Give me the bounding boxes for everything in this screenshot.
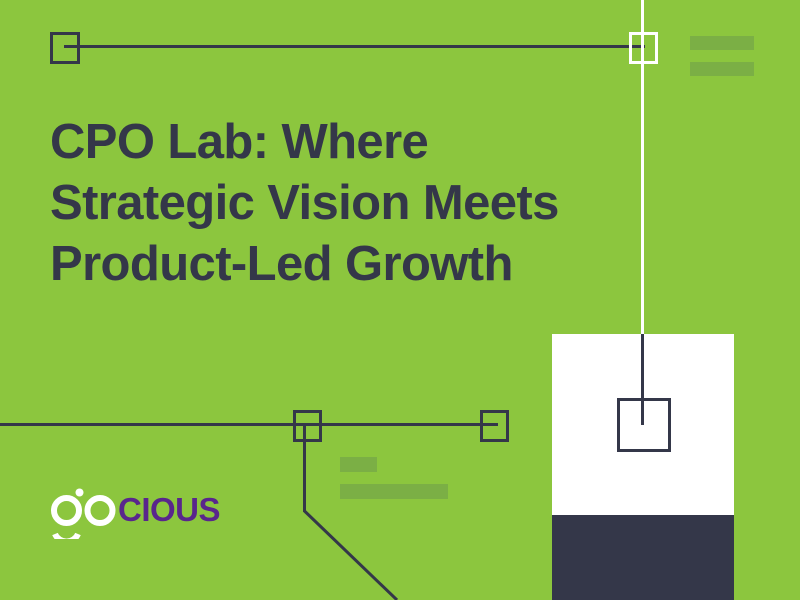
top-left-square-outline bbox=[50, 32, 80, 64]
top-horizontal-rule bbox=[64, 45, 645, 48]
mid-olive-bar-1 bbox=[340, 457, 377, 472]
panel-navy-block bbox=[552, 515, 734, 600]
logo-letter-g bbox=[54, 489, 84, 540]
mid-drop-vertical-line bbox=[303, 426, 306, 512]
mid-horizontal-rule bbox=[0, 423, 498, 426]
gocious-logo: CIOUS bbox=[48, 487, 248, 539]
mid-square-outline-right bbox=[480, 410, 509, 442]
banner-canvas: CPO Lab: Where Strategic Vision Meets Pr… bbox=[0, 0, 800, 600]
top-right-olive-bar-1 bbox=[690, 36, 754, 50]
logo-letter-o bbox=[88, 498, 113, 523]
gocious-logo-mark: CIOUS bbox=[48, 487, 248, 539]
top-right-olive-bar-2 bbox=[690, 62, 754, 76]
panel-square-outline bbox=[617, 398, 671, 452]
top-right-white-square-outline bbox=[629, 32, 658, 64]
mid-olive-bar-2 bbox=[340, 484, 448, 499]
bottom-right-panel bbox=[552, 334, 734, 600]
mid-square-outline-left bbox=[293, 410, 322, 442]
logo-wordmark-cious: CIOUS bbox=[118, 491, 220, 528]
top-right-vertical-white-line bbox=[641, 0, 644, 334]
page-title: CPO Lab: Where Strategic Vision Meets Pr… bbox=[50, 112, 580, 295]
logo-dot-icon bbox=[76, 489, 84, 497]
